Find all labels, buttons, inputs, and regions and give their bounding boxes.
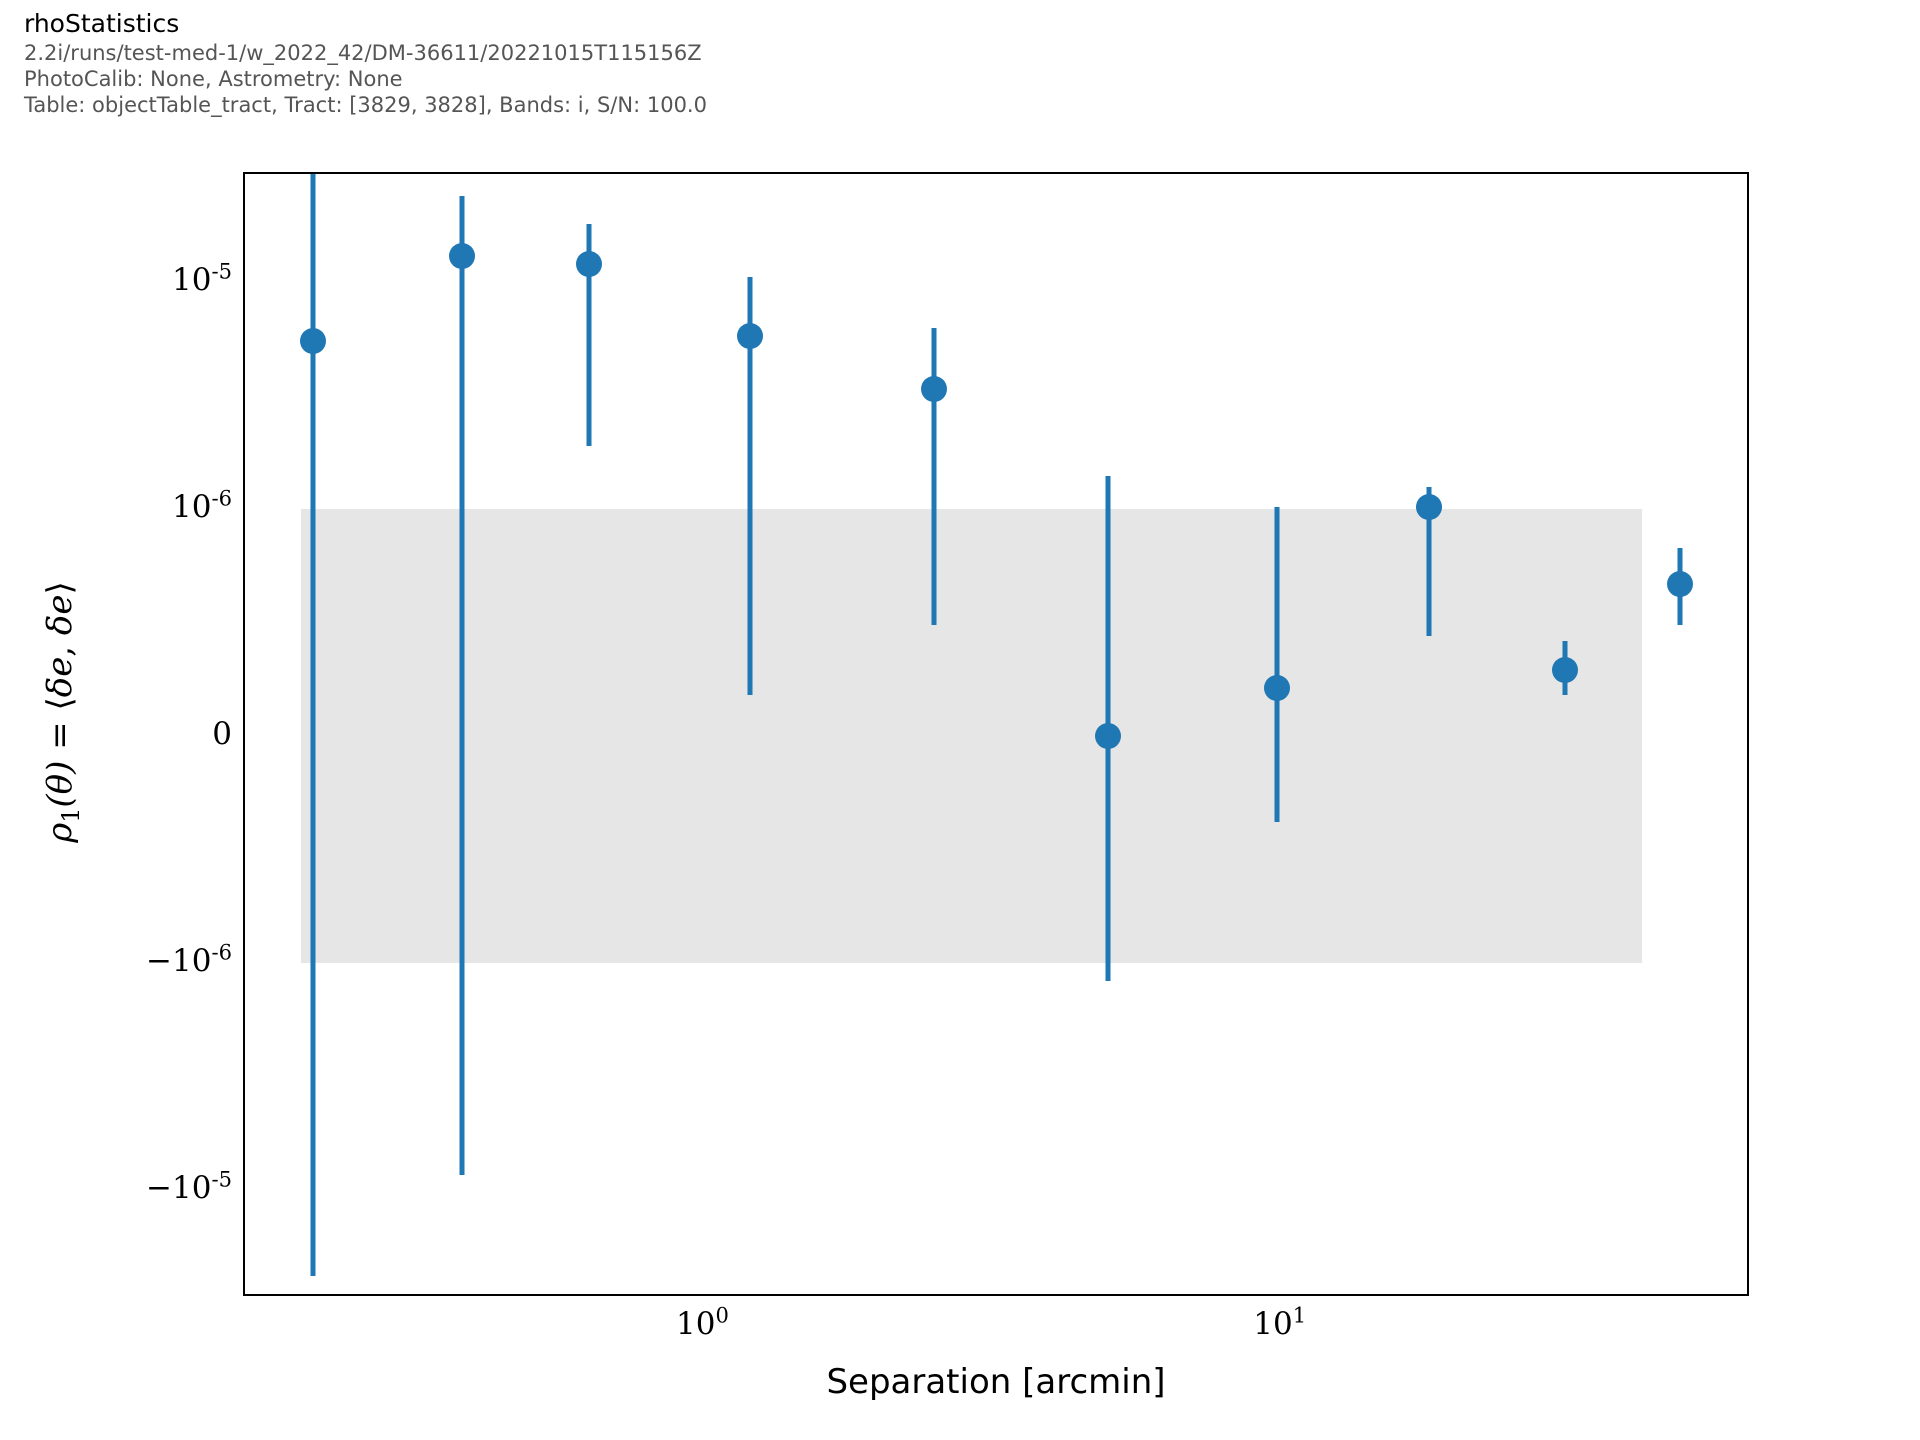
page-title: rhoStatistics	[24, 8, 1524, 40]
y-tick-mark	[243, 508, 245, 510]
data-point-marker	[1552, 657, 1578, 683]
y-tick-mark	[243, 735, 245, 737]
y-tick-label: −10-6	[146, 943, 232, 979]
x-tick-label: 101	[1253, 1306, 1306, 1342]
y-minor-tick-mark	[243, 1167, 245, 1169]
y-tick-label: −10-5	[146, 1170, 232, 1206]
x-tick-mark	[703, 1294, 705, 1296]
data-point-marker	[1095, 723, 1121, 749]
y-minor-tick-mark	[243, 1257, 245, 1259]
x-minor-tick-mark	[575, 1294, 577, 1296]
x-minor-tick-mark	[979, 1294, 981, 1296]
x-minor-tick-mark	[1628, 1294, 1630, 1296]
y-tick-mark	[243, 1189, 245, 1191]
x-minor-tick-mark	[530, 1294, 532, 1296]
x-minor-tick-mark	[1051, 1294, 1053, 1296]
x-minor-tick-mark	[877, 1294, 879, 1296]
error-bar	[932, 328, 937, 625]
x-minor-tick-mark	[1107, 1294, 1109, 1296]
y-minor-tick-mark	[243, 440, 245, 442]
x-minor-tick-mark	[1684, 1294, 1686, 1296]
data-point-marker	[1264, 675, 1290, 701]
y-minor-tick-mark	[243, 173, 245, 175]
x-minor-tick-mark	[648, 1294, 650, 1296]
data-point-marker	[921, 376, 947, 402]
x-minor-tick-mark	[677, 1294, 679, 1296]
y-minor-tick-mark	[243, 1138, 245, 1140]
y-minor-tick-mark	[243, 292, 245, 294]
y-tick-label: 10-5	[172, 262, 232, 298]
data-point-marker	[1416, 494, 1442, 520]
subtitle-line-repo: 2.2i/runs/test-med-1/w_2022_42/DM-36611/…	[24, 40, 1524, 66]
x-tick-label: 100	[676, 1306, 729, 1342]
x-minor-tick-mark	[614, 1294, 616, 1296]
data-point-marker	[737, 323, 763, 349]
rho-statistics-figure: rhoStatistics 2.2i/runs/test-med-1/w_202…	[0, 0, 1920, 1440]
y-minor-tick-mark	[243, 400, 245, 402]
y-minor-tick-mark	[243, 332, 245, 334]
x-axis-tick-labels: 100101	[243, 1306, 1749, 1356]
y-minor-tick-mark	[243, 1120, 245, 1122]
x-minor-tick-mark	[474, 1294, 476, 1296]
y-tick-label: 10-6	[172, 489, 232, 525]
x-tick-mark	[1281, 1294, 1283, 1296]
y-minor-tick-mark	[243, 1030, 245, 1032]
y-minor-tick-mark	[243, 1070, 245, 1072]
x-minor-tick-mark	[1254, 1294, 1256, 1296]
y-minor-tick-mark	[243, 316, 245, 318]
y-axis-label: ρ1(θ) = ⟨δe, δe⟩	[40, 212, 80, 1212]
y-tick-mark	[243, 281, 245, 283]
reference-band	[301, 509, 1642, 963]
x-minor-tick-mark	[1556, 1294, 1558, 1296]
x-minor-tick-mark	[1153, 1294, 1155, 1296]
subtitle-line-table: Table: objectTable_tract, Tract: [3829, …	[24, 92, 1524, 118]
x-minor-tick-mark	[300, 1294, 302, 1296]
data-point-marker	[576, 251, 602, 277]
y-minor-tick-mark	[243, 1098, 245, 1100]
y-minor-tick-mark	[243, 1154, 245, 1156]
x-minor-tick-mark	[1455, 1294, 1457, 1296]
x-minor-tick-mark	[402, 1294, 404, 1296]
error-bar	[459, 196, 464, 1175]
y-tick-mark	[243, 962, 245, 964]
x-minor-tick-mark	[1225, 1294, 1227, 1296]
x-minor-tick-mark	[1730, 1294, 1732, 1296]
plot-axes	[243, 172, 1749, 1296]
y-minor-tick-mark	[243, 213, 245, 215]
subtitle-line-calib: PhotoCalib: None, Astrometry: None	[24, 66, 1524, 92]
y-tick-label: 0	[212, 716, 232, 752]
y-minor-tick-mark	[243, 303, 245, 305]
y-minor-tick-mark	[243, 1178, 245, 1180]
y-minor-tick-mark	[243, 372, 245, 374]
x-axis-label: Separation [arcmin]	[243, 1362, 1749, 1402]
data-point-marker	[300, 328, 326, 354]
x-minor-tick-mark	[1191, 1294, 1193, 1296]
figure-header: rhoStatistics 2.2i/runs/test-med-1/w_202…	[24, 8, 1524, 118]
data-point-marker	[449, 243, 475, 269]
y-axis-tick-labels: 10-510-60−10-6−10-5	[0, 172, 232, 1296]
y-minor-tick-mark	[243, 350, 245, 352]
error-bar	[1274, 507, 1279, 822]
data-point-marker	[1667, 571, 1693, 597]
